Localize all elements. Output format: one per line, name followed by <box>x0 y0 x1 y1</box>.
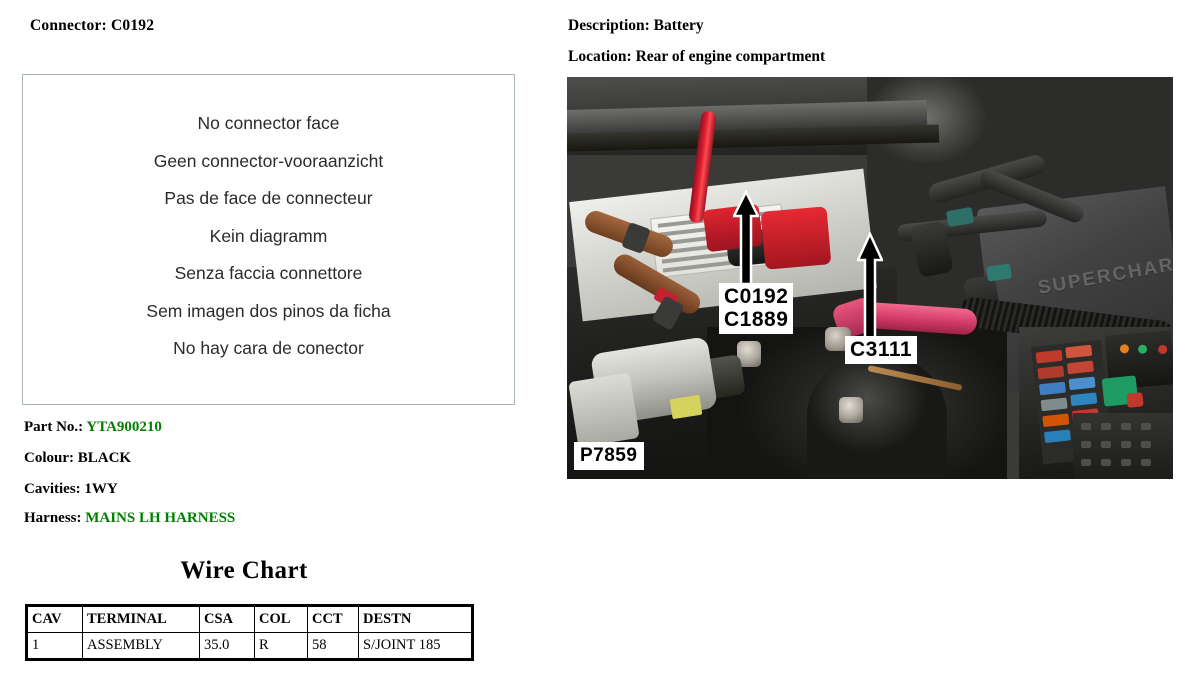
arrow-to-c3111-connector <box>857 232 883 340</box>
column-header-cav: CAV <box>27 606 83 633</box>
cell-csa: 35.0 <box>200 633 255 660</box>
table-row: 1 ASSEMBLY 35.0 R 58 S/JOINT 185 <box>27 633 473 660</box>
description-label: Description: <box>568 17 650 34</box>
no-connector-face-translations: No connector face Geen connector-vooraan… <box>23 105 514 368</box>
cell-terminal: ASSEMBLY <box>83 633 200 660</box>
no-connector-face-box: No connector face Geen connector-vooraan… <box>22 74 515 405</box>
no-face-line-fr: Pas de face de connecteur <box>23 180 514 218</box>
connector-value: C0192 <box>111 17 154 34</box>
no-face-line-it: Senza faccia connettore <box>23 255 514 293</box>
photo-red-fuse <box>1126 392 1143 408</box>
callout-connectors: C0192 C1889 <box>719 283 793 334</box>
part-number-row: Part No.: YTA900210 <box>24 419 162 436</box>
connector-label: Connector: <box>30 17 107 34</box>
location-value: Rear of engine compartment <box>636 48 826 65</box>
no-face-line-de: Kein diagramm <box>23 218 514 256</box>
table-header-row: CAV TERMINAL CSA COL CCT DESTN <box>27 606 473 633</box>
column-header-terminal: TERMINAL <box>83 606 200 633</box>
colour-row: Colour: BLACK <box>24 450 131 467</box>
location-label: Location: <box>568 48 632 65</box>
wire-chart-table: CAV TERMINAL CSA COL CCT DESTN 1 ASSEMBL… <box>25 604 474 661</box>
callout-c3111: C3111 <box>845 336 917 364</box>
photo-fuse-box-grille <box>1073 413 1173 479</box>
location-heading: Location: Rear of engine compartment <box>568 48 825 66</box>
cavities-value: 1WY <box>84 481 117 497</box>
part-number-label: Part No.: <box>24 419 83 435</box>
colour-value: BLACK <box>78 450 131 466</box>
part-number-value[interactable]: YTA900210 <box>86 419 162 435</box>
description-value: Battery <box>654 17 704 34</box>
cavities-label: Cavities: <box>24 481 81 497</box>
photo-red-terminal-right <box>761 206 832 270</box>
column-header-cct: CCT <box>308 606 359 633</box>
no-face-line-es: No hay cara de conector <box>23 330 514 368</box>
photo-cylinder-base <box>568 373 640 448</box>
cell-destn: S/JOINT 185 <box>359 633 473 660</box>
cell-cav: 1 <box>27 633 83 660</box>
no-face-line-en: No connector face <box>23 105 514 143</box>
harness-row: Harness: MAINS LH HARNESS <box>24 510 235 527</box>
column-header-col: COL <box>255 606 308 633</box>
cavities-row: Cavities: 1WY <box>24 481 118 498</box>
connector-location-photo: SUPERCHARGED <box>567 77 1173 479</box>
callout-c1889-text: C1889 <box>724 308 788 331</box>
photo-id-label: P7859 <box>574 442 644 470</box>
harness-label: Harness: <box>24 510 82 526</box>
no-face-line-nl: Geen connector-vooraanzicht <box>23 143 514 181</box>
connector-heading: Connector: C0192 <box>30 17 154 35</box>
description-heading: Description: Battery <box>568 17 704 35</box>
column-header-destn: DESTN <box>359 606 473 633</box>
cell-cct: 58 <box>308 633 359 660</box>
harness-value[interactable]: MAINS LH HARNESS <box>85 510 235 526</box>
colour-label: Colour: <box>24 450 74 466</box>
arrow-to-c0192-connector <box>733 190 759 286</box>
wire-chart-title: Wire Chart <box>24 557 464 585</box>
cell-col: R <box>255 633 308 660</box>
photo-bolt-lower <box>839 397 863 423</box>
callout-c0192-text: C0192 <box>724 285 788 308</box>
column-header-csa: CSA <box>200 606 255 633</box>
no-face-line-pt: Sem imagen dos pinos da ficha <box>23 293 514 331</box>
